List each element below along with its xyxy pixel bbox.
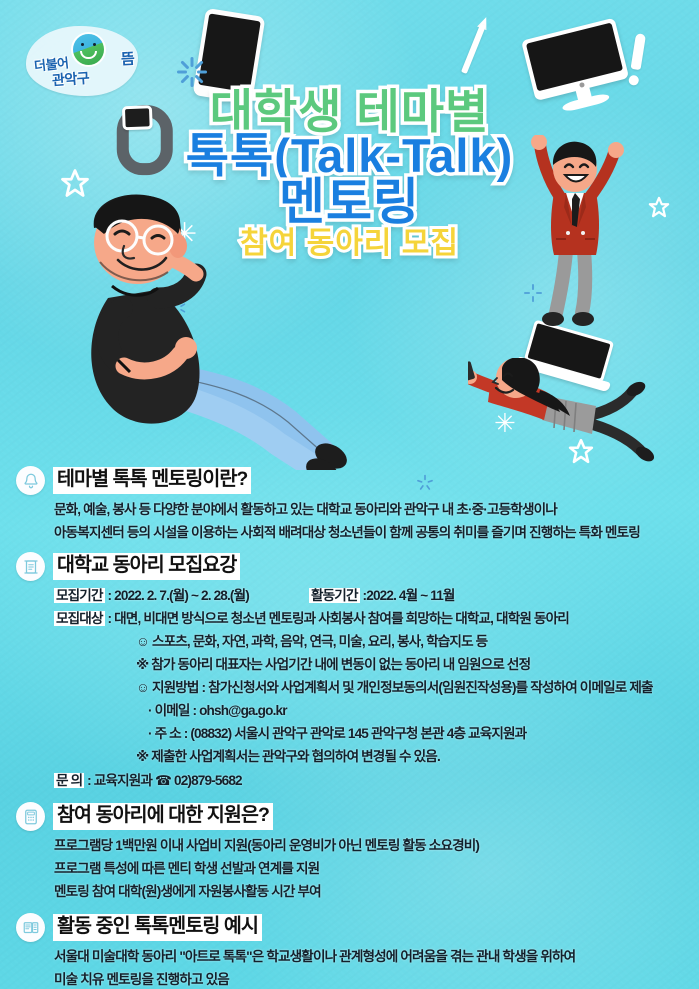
flying-student-girl-illustration	[468, 358, 678, 468]
section-recruitment-guidelines: 대학교 동아리 모집요강 모집기간 : 2022. 2. 7.(월) ~ 2. …	[16, 552, 683, 792]
section-title: 참여 동아리에 대한 지원은?	[53, 803, 273, 830]
body-line: 멘토링 참여 대학(원)생에게 자원봉사활동 시간 부여	[16, 881, 683, 903]
body-line: ☺ 지원방법 : 참가신청서와 사업계획서 및 개인정보동의서(임원진작성용)를…	[16, 677, 683, 699]
body-line: 서울대 미술대학 동아리 "아트로 톡톡"은 학교생활이나 관계형성에 어려움을…	[16, 946, 683, 968]
section-header: 활동 중인 톡톡멘토링 예시	[16, 913, 683, 942]
contact-value: : 교육지원과 ☎ 02)879-5682	[84, 773, 242, 788]
logo-text-tteum: 뜸	[120, 48, 134, 70]
pencil-icon	[459, 15, 491, 74]
section-support-details: 참여 동아리에 대한 지원은? 프로그램당 1백만원 이내 사업비 지원(동아리…	[16, 802, 683, 903]
period-row: 모집기간 : 2022. 2. 7.(월) ~ 2. 28.(월) 활동기간 :…	[16, 585, 683, 607]
gwanak-gu-logo: 더불어 뜸 관악구	[26, 26, 138, 96]
section-title: 대학교 동아리 모집요강	[53, 553, 240, 580]
activity-period-value: :2022. 4월 ~ 11월	[360, 588, 455, 603]
logo-text-gwanak-gu: 관악구	[51, 68, 89, 91]
body-line: 프로그램당 1백만원 이내 사업비 지원(동아리 운영비가 아닌 멘토링 활동 …	[16, 835, 683, 857]
recruit-period-value: : 2022. 2. 7.(월) ~ 2. 28.(월)	[105, 588, 249, 603]
body-line: 모집대상 : 대면, 비대면 방식으로 청소년 멘토링과 사회봉사 참여를 희망…	[16, 608, 683, 630]
body-line: 프로그램 특성에 따른 멘티 학생 선발과 연계를 지원	[16, 858, 683, 880]
recruit-period: 모집기간 : 2022. 2. 7.(월) ~ 2. 28.(월)	[54, 585, 309, 607]
recruit-period-label: 모집기간	[54, 588, 105, 603]
section-header: 대학교 동아리 모집요강	[16, 552, 683, 581]
smiley-eye-left	[81, 43, 84, 46]
calculator-icon	[16, 802, 45, 831]
body-line-address: · 주 소 : (08832) 서울시 관악구 관악로 145 관악구청 본관 …	[16, 723, 683, 745]
activity-period-label: 활동기간	[309, 588, 360, 603]
smiley-face-icon	[73, 34, 104, 65]
jumping-student-illustration	[520, 135, 630, 330]
smiley-mouth	[80, 51, 97, 59]
section-body: 서울대 미술대학 동아리 "아트로 톡톡"은 학교생활이나 관계형성에 어려움을…	[16, 946, 683, 989]
body-line: 문화, 예술, 봉사 등 다양한 분야에서 활동하고 있는 대학교 동아리와 관…	[16, 499, 683, 521]
content-sections: 테마별 톡톡 멘토링이란? 문화, 예술, 봉사 등 다양한 분야에서 활동하고…	[0, 466, 699, 989]
section-header: 참여 동아리에 대한 지원은?	[16, 802, 683, 831]
body-line: ☺ 스포츠, 문화, 자연, 과학, 음악, 연극, 미술, 요리, 봉사, 학…	[16, 631, 683, 653]
section-title: 활동 중인 톡톡멘토링 예시	[53, 914, 262, 941]
body-line: 미술 치유 멘토링을 진행하고 있음	[16, 969, 683, 989]
body-line: ※ 제출한 사업계획서는 관악구와 협의하여 변경될 수 있음.	[16, 746, 683, 768]
bell-icon	[16, 466, 45, 495]
body-line-email: · 이메일 : ohsh@ga.go.kr	[16, 700, 683, 722]
sitting-man-illustration	[60, 190, 380, 470]
contact-label: 문 의	[54, 773, 84, 788]
smiley-eye-right	[93, 43, 96, 46]
contact-line: 문 의 : 교육지원과 ☎ 02)879-5682	[16, 770, 683, 792]
section-title: 테마별 톡톡 멘토링이란?	[53, 467, 251, 494]
section-header: 테마별 톡톡 멘토링이란?	[16, 466, 683, 495]
target-value: : 대면, 비대면 방식으로 청소년 멘토링과 사회봉사 참여를 희망하는 대학…	[105, 611, 569, 626]
poster-root: 더불어 뜸 관악구	[0, 0, 699, 989]
section-body: 프로그램당 1백만원 이내 사업비 지원(동아리 운영비가 아닌 멘토링 활동 …	[16, 835, 683, 903]
body-line: ※ 참가 동아리 대표자는 사업기간 내에 변동이 없는 동아리 내 임원으로 …	[16, 654, 683, 676]
activity-period: 활동기간 :2022. 4월 ~ 11월	[309, 585, 455, 607]
scroll-document-icon	[16, 552, 45, 581]
section-body: 문화, 예술, 봉사 등 다양한 분야에서 활동하고 있는 대학교 동아리와 관…	[16, 499, 683, 544]
target-label: 모집대상	[54, 611, 105, 626]
exclamation-mark-icon	[628, 33, 652, 87]
section-body: 모집기간 : 2022. 2. 7.(월) ~ 2. 28.(월) 활동기간 :…	[16, 585, 683, 792]
section-what-is-mentoring: 테마별 톡톡 멘토링이란? 문화, 예술, 봉사 등 다양한 분야에서 활동하고…	[16, 466, 683, 544]
body-line: 아동복지센터 등의 시설을 이용하는 사회적 배려대상 청소년들이 함께 공통의…	[16, 522, 683, 544]
computer-icon	[16, 913, 45, 942]
section-examples: 활동 중인 톡톡멘토링 예시 서울대 미술대학 동아리 "아트로 톡톡"은 학교…	[16, 913, 683, 989]
